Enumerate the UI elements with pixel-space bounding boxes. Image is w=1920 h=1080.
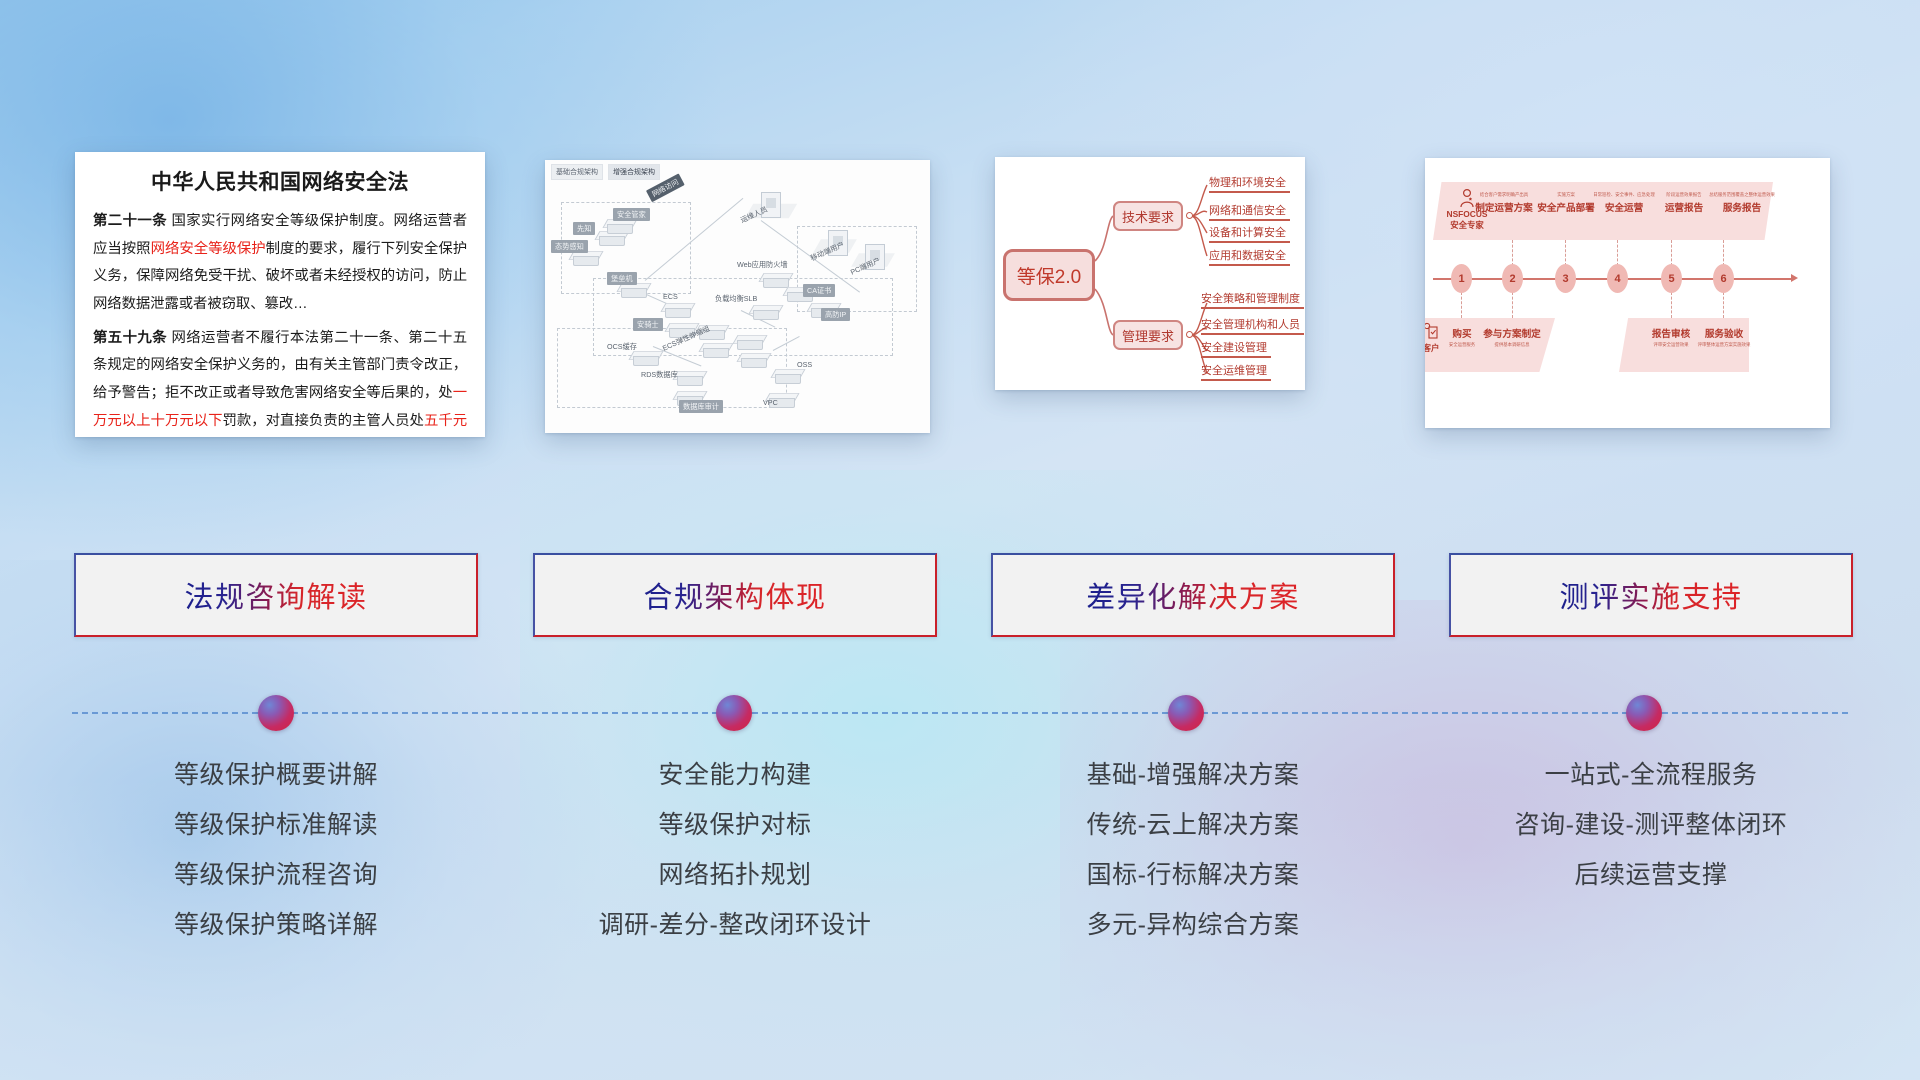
flow-step-service-report-big: 服务报告 xyxy=(1709,200,1775,214)
flow-connector-b2 xyxy=(1512,292,1513,318)
bullet-regulation-2: 等级保护流程咨询 xyxy=(74,850,478,900)
section-titles-row: 法规咨询解读 合规架构体现 差异化解决方案 测评实施支持 xyxy=(0,553,1920,637)
timeline-dot-regulation[interactable] xyxy=(258,695,294,731)
arch-label-ocs-cache: OCS缓存 xyxy=(607,342,637,352)
flow-step-operate: 日常巡检、安全事件、应急处理 安全运营 xyxy=(1591,192,1657,214)
flow-node-6[interactable]: 6 xyxy=(1713,264,1734,293)
flow-node-1[interactable]: 1 xyxy=(1451,264,1472,293)
bullet-solution-3: 多元-异构综合方案 xyxy=(991,900,1395,950)
flow-step-deploy-sub: 实施方案 xyxy=(1533,192,1599,198)
timeline-dot-architecture[interactable] xyxy=(716,695,752,731)
arch-label-situational: 态势感知 xyxy=(551,240,588,253)
mindmap-leaf-ops-mgmt: 安全运维管理 xyxy=(1201,362,1267,380)
flow-bottom-step-participate: 参与方案制定 提供基本调研信息 xyxy=(1481,326,1543,348)
bullet-columns-row: 等级保护概要讲解 等级保护标准解读 等级保护流程咨询 等级保护策略详解 安全能力… xyxy=(0,750,1920,1010)
bullet-regulation-1: 等级保护标准解读 xyxy=(74,800,478,850)
flow-step-plan-big: 制定运营方案 xyxy=(1471,200,1537,214)
flow-connector-b1 xyxy=(1461,292,1462,318)
card-slot-mindmap: 等保2.0 技术要求 物理和环境安全 网络和通信安全 设备和计算安全 应用和数据… xyxy=(995,157,1305,390)
preview-cards-row: 中华人民共和国网络安全法 第二十一条 国家实行网络安全等级保护制度。网络运营者应… xyxy=(0,152,1920,442)
bullet-column-architecture: 安全能力构建 等级保护对标 网络拓扑规划 调研-差分-整改闭环设计 xyxy=(533,750,937,950)
bullet-assessment-2: 后续运营支撑 xyxy=(1449,850,1853,900)
flow-step-service-report: 总结服务范围覆盖之整体运营效果 服务报告 xyxy=(1709,192,1775,214)
flow-bottom-acceptance-sub: 评审整体运营方案实施效果 xyxy=(1693,342,1755,348)
arch-label-oss: OSS xyxy=(797,360,812,369)
mindmap-leaf-org-personnel: 安全管理机构和人员 xyxy=(1201,316,1300,334)
timeline-rail xyxy=(0,695,1920,731)
law-21-run-1-highlight: 网络安全等级保护 xyxy=(151,241,266,257)
flow-connector-4 xyxy=(1617,240,1618,266)
pill-solution[interactable]: 差异化解决方案 xyxy=(991,553,1395,637)
flow-step-ops-report-big: 运营报告 xyxy=(1651,200,1717,214)
bullet-architecture-1: 等级保护对标 xyxy=(533,800,937,850)
flow-step-operate-sub: 日常巡检、安全事件、应急处理 xyxy=(1591,192,1657,198)
pill-regulation[interactable]: 法规咨询解读 xyxy=(74,553,478,637)
flow-preview-card[interactable]: NSFOCUS 安全专家 结合客户需求明确产出具 制定运营方案 实施方案 安全产… xyxy=(1425,158,1830,428)
arch-label-waf: Web应用防火墙 xyxy=(737,260,788,270)
card-slot-flow: NSFOCUS 安全专家 结合客户需求明确产出具 制定运营方案 实施方案 安全产… xyxy=(1425,158,1830,428)
arch-label-db-audit: 数据库审计 xyxy=(679,400,723,413)
bullet-architecture-3: 调研-差分-整改闭环设计 xyxy=(533,900,937,950)
arch-label-security-butler: 安全管家 xyxy=(613,208,650,221)
bullet-column-solution: 基础-增强解决方案 传统-云上解决方案 国标-行标解决方案 多元-异构综合方案 xyxy=(991,750,1395,950)
arch-label-ca-cert: CA证书 xyxy=(803,284,835,297)
mindmap-leaf-physical-env: 物理和环境安全 xyxy=(1209,174,1286,192)
bullet-architecture-2: 网络拓扑规划 xyxy=(533,850,937,900)
card-slot-law: 中华人民共和国网络安全法 第二十一条 国家实行网络安全等级保护制度。网络运营者应… xyxy=(75,152,485,437)
bullet-regulation-0: 等级保护概要讲解 xyxy=(74,750,478,800)
mindmap-leaf-build-mgmt: 安全建设管理 xyxy=(1201,339,1267,357)
flow-node-2[interactable]: 2 xyxy=(1502,264,1523,293)
timeline-dashed-line xyxy=(72,712,1848,714)
pill-assessment[interactable]: 测评实施支持 xyxy=(1449,553,1853,637)
arch-server-rds xyxy=(675,368,705,389)
mindmap-root-node[interactable]: 等保2.0 xyxy=(1003,249,1095,301)
mindmap-branch-technical[interactable]: 技术要求 xyxy=(1113,201,1183,231)
arch-server-ecs-3 xyxy=(701,340,731,361)
arch-tab-basic[interactable]: 基础合规架构 xyxy=(551,164,603,180)
flow-step-plan-sub: 结合客户需求明确产出具 xyxy=(1471,192,1537,198)
flow-bottom-step-acceptance: 服务验收 评审整体运营方案实施效果 xyxy=(1693,326,1755,348)
flow-step-ops-report-sub: 阶段运营效果报告 xyxy=(1651,192,1717,198)
bullet-column-regulation: 等级保护概要讲解 等级保护标准解读 等级保护流程咨询 等级保护策略详解 xyxy=(74,750,478,950)
arch-label-vpc: VPC xyxy=(763,398,778,407)
flow-connector-b6 xyxy=(1723,292,1724,318)
law-article-59-label: 第五十九条 xyxy=(93,330,167,346)
slide-stage: 中华人民共和国网络安全法 第二十一条 国家实行网络安全等级保护制度。网络运营者应… xyxy=(0,0,1920,1080)
pill-solution-label: 差异化解决方案 xyxy=(1086,574,1300,616)
timeline-dot-solution[interactable] xyxy=(1168,695,1204,731)
arch-server-ecs-5 xyxy=(739,350,769,371)
bullet-regulation-3: 等级保护策略详解 xyxy=(74,900,478,950)
flow-connector-5 xyxy=(1671,240,1672,266)
mindmap-preview-card[interactable]: 等保2.0 技术要求 物理和环境安全 网络和通信安全 设备和计算安全 应用和数据… xyxy=(995,157,1305,390)
law-paragraph-21: 第二十一条 国家实行网络安全等级保护制度。网络运营者应当按照网络安全等级保护制度… xyxy=(93,208,467,319)
mindmap-branch-management[interactable]: 管理要求 xyxy=(1113,320,1183,350)
flow-bottom-participate-sub: 提供基本调研信息 xyxy=(1481,342,1543,348)
mindmap-collapse-dot-technical[interactable] xyxy=(1186,212,1193,219)
law-article-21-label: 第二十一条 xyxy=(93,213,167,229)
mindmap-collapse-dot-management[interactable] xyxy=(1186,331,1193,338)
mindmap-leaf-policy-system: 安全策略和管理制度 xyxy=(1201,290,1300,308)
arch-server-oss xyxy=(773,366,803,387)
flow-expert-line2: 安全专家 xyxy=(1439,220,1495,231)
timeline-dot-assessment[interactable] xyxy=(1626,695,1662,731)
mindmap-leaf-device-compute: 设备和计算安全 xyxy=(1209,224,1286,242)
flow-step-deploy-big: 安全产品部署 xyxy=(1533,200,1599,214)
bullet-architecture-0: 安全能力构建 xyxy=(533,750,937,800)
arch-label-ecs: ECS xyxy=(663,292,678,301)
flow-node-5[interactable]: 5 xyxy=(1661,264,1682,293)
arch-label-bastion: 堡垒机 xyxy=(607,272,637,285)
flow-node-4[interactable]: 4 xyxy=(1607,264,1628,293)
flow-connector-6 xyxy=(1723,240,1724,266)
arch-server-ecs-1 xyxy=(663,300,693,321)
flow-step-service-report-sub: 总结服务范围覆盖之整体运营效果 xyxy=(1709,192,1775,198)
arch-server-slb xyxy=(751,302,781,323)
flow-connector-b5 xyxy=(1671,292,1672,318)
bullet-assessment-0: 一站式-全流程服务 xyxy=(1449,750,1853,800)
arch-label-xianzhi: 先知 xyxy=(573,222,595,235)
pill-architecture[interactable]: 合规架构体现 xyxy=(533,553,937,637)
architecture-tab-group[interactable]: 基础合规架构 增强合规架构 xyxy=(551,164,660,180)
architecture-preview-card[interactable]: 基础合规架构 增强合规架构 xyxy=(545,160,930,433)
arch-tab-enhanced[interactable]: 增强合规架构 xyxy=(608,164,660,180)
law-card-title: 中华人民共和国网络安全法 xyxy=(93,166,467,196)
pill-assessment-label: 测评实施支持 xyxy=(1559,574,1742,616)
flow-connector-2 xyxy=(1512,240,1513,266)
mindmap-leaf-network-comm: 网络和通信安全 xyxy=(1209,202,1286,220)
flow-node-3[interactable]: 3 xyxy=(1555,264,1576,293)
flow-step-deploy: 实施方案 安全产品部署 xyxy=(1533,192,1599,214)
arch-label-anqishi: 安骑士 xyxy=(633,318,663,331)
bullet-solution-1: 传统-云上解决方案 xyxy=(991,800,1395,850)
flow-bottom-participate-big: 参与方案制定 xyxy=(1481,326,1543,340)
bullet-assessment-1: 咨询-建设-测评整体闭环 xyxy=(1449,800,1853,850)
law-59-run-2: 罚款，对直接负责的主管人员处 xyxy=(223,413,424,429)
flow-axis-arrow-icon xyxy=(1791,274,1798,282)
law-paragraph-59: 第五十九条 网络运营者不履行本法第二十一条、第二十五条规定的网络安全保护义务的，… xyxy=(93,325,467,437)
arch-label-anti-ddos-ip: 高防IP xyxy=(821,308,850,321)
pill-architecture-label: 合规架构体现 xyxy=(643,574,826,616)
bullet-column-assessment: 一站式-全流程服务 咨询-建设-测评整体闭环 后续运营支撑 xyxy=(1449,750,1853,900)
law-preview-card[interactable]: 中华人民共和国网络安全法 第二十一条 国家实行网络安全等级保护制度。网络运营者应… xyxy=(75,152,485,437)
card-slot-architecture: 基础合规架构 增强合规架构 xyxy=(545,160,930,433)
bullet-solution-2: 国标-行标解决方案 xyxy=(991,850,1395,900)
flow-step-plan: 结合客户需求明确产出具 制定运营方案 xyxy=(1471,192,1537,214)
flow-step-operate-big: 安全运营 xyxy=(1591,200,1657,214)
flow-bottom-acceptance-big: 服务验收 xyxy=(1693,326,1755,340)
mindmap-leaf-app-data: 应用和数据安全 xyxy=(1209,247,1286,265)
flow-connector-3 xyxy=(1565,240,1566,266)
pill-regulation-label: 法规咨询解读 xyxy=(184,574,367,616)
arch-label-slb: 负载均衡SLB xyxy=(715,294,757,304)
architecture-canvas: 基础合规架构 增强合规架构 xyxy=(545,160,930,433)
flow-step-ops-report: 阶段运营效果报告 运营报告 xyxy=(1651,192,1717,214)
bullet-solution-0: 基础-增强解决方案 xyxy=(991,750,1395,800)
arch-label-rds: RDS数据库 xyxy=(641,370,678,380)
